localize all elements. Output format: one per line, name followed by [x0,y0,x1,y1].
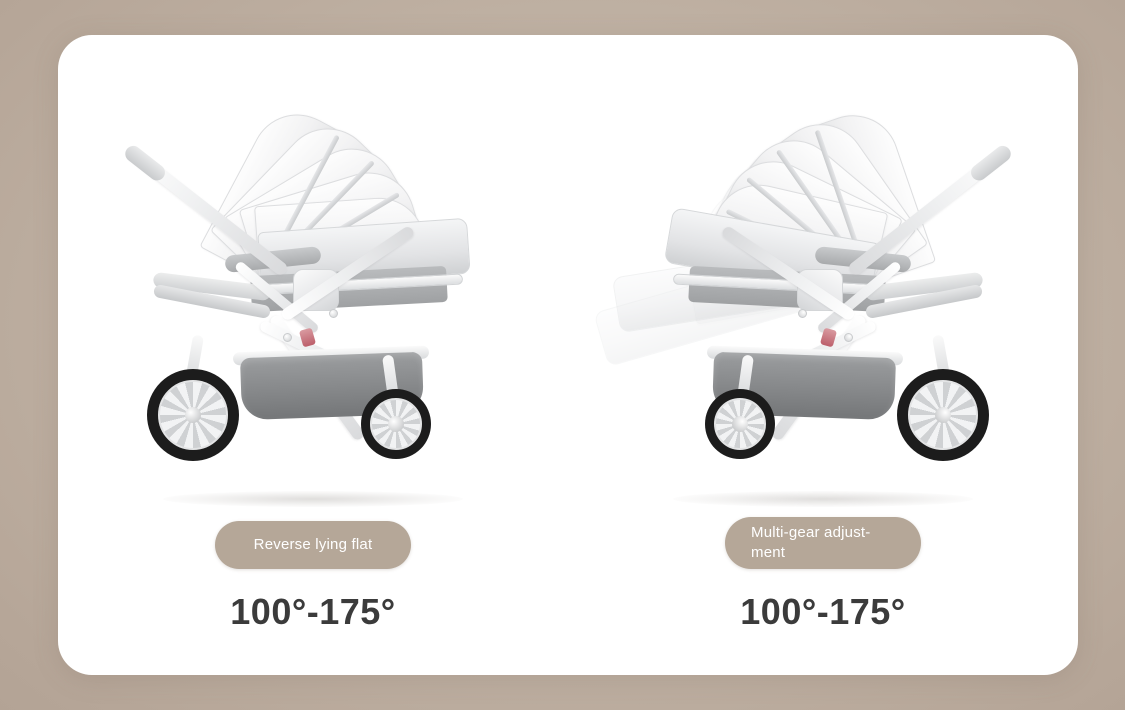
wheel-hub [185,407,201,423]
wheel-hub [388,416,404,432]
frame-pivot-dot [798,309,807,318]
feature-pill-multi-gear-adjustment: Multi-gear adjust-ment [725,517,921,570]
panel-multi-gear-adjustment: Multi-gear adjust-ment 100°-175° [568,35,1078,675]
panel-container: Reverse lying flat 100°-175° [58,35,1078,675]
caption-multi-gear-adjustment: Multi-gear adjust-ment 100°-175° [568,517,1078,634]
floor-shadow [673,491,973,507]
handlebar-grip [122,143,168,184]
product-feature-card: Reverse lying flat 100°-175° [58,35,1078,675]
frame-pivot-dot [844,333,853,342]
stroller-image-multi-gear-adjustment [643,83,1003,513]
handlebar-grip [968,143,1014,184]
panel-reverse-lying-flat: Reverse lying flat 100°-175° [58,35,568,675]
floor-shadow [163,491,463,507]
front-wheel [705,389,775,459]
recline-range-left: 100°-175° [58,591,568,633]
wheel-hub [732,416,748,432]
frame-pivot-dot [283,333,292,342]
frame-pivot-dot [329,309,338,318]
caption-reverse-lying-flat: Reverse lying flat 100°-175° [58,521,568,633]
wheel-hub [935,407,951,423]
recline-range-right: 100°-175° [568,591,1078,633]
stroller-image-reverse-lying-flat [133,83,493,513]
stroller-stage-left [58,83,568,523]
rear-wheel [147,369,239,461]
rear-wheel [897,369,989,461]
feature-pill-reverse-lying-flat: Reverse lying flat [215,521,411,569]
stroller-stage-right [568,83,1078,523]
front-wheel [361,389,431,459]
